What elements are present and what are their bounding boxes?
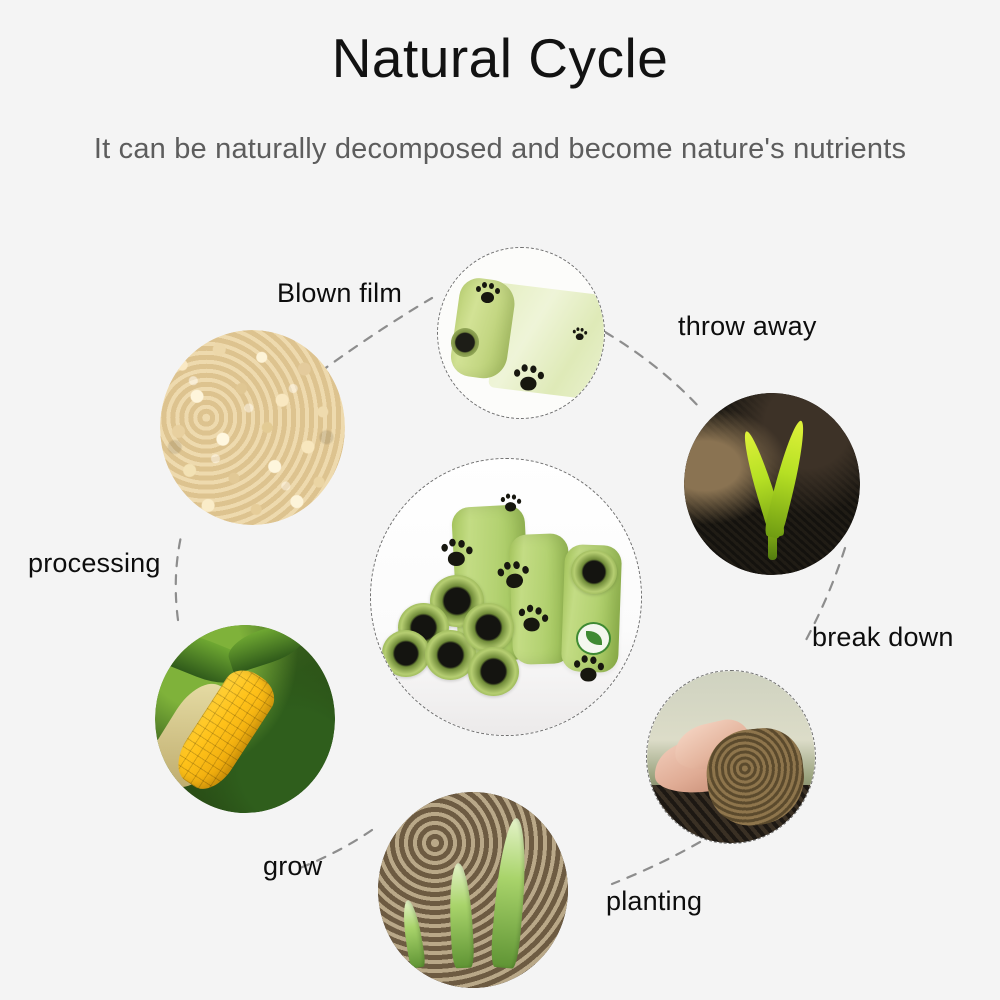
center-product-image[interactable] <box>370 458 642 736</box>
connector-break-down-to-planting <box>612 842 700 884</box>
node-image-grow[interactable] <box>155 625 335 813</box>
node-image-blown-film[interactable] <box>437 247 605 419</box>
paw-print-icon <box>500 494 522 513</box>
planting-photo <box>378 792 568 988</box>
label-processing: processing <box>28 548 161 579</box>
throw-away-photo <box>684 393 860 575</box>
paw-print-icon <box>475 282 501 304</box>
paw-print-icon <box>573 655 606 683</box>
bag-roll-stack-illustration <box>371 459 641 735</box>
resin-pellets-illustration <box>160 330 345 525</box>
paw-print-icon <box>514 603 550 635</box>
hands-with-soil-illustration <box>647 671 815 843</box>
bag-roll-end <box>468 647 519 697</box>
film-roll-illustration <box>438 248 604 418</box>
seedling-small <box>405 900 421 968</box>
node-image-processing[interactable] <box>160 330 345 525</box>
node-image-throw-away[interactable] <box>684 393 860 575</box>
dark-soil-sprout-illustration <box>684 393 860 575</box>
label-break-down: break down <box>812 622 954 653</box>
node-image-break-down[interactable] <box>646 670 816 844</box>
label-throw-away: throw away <box>678 311 817 342</box>
label-planting: planting <box>606 886 702 917</box>
page-title: Natural Cycle <box>0 28 1000 89</box>
blown-film-photo <box>438 248 604 418</box>
processing-photo <box>160 330 345 525</box>
bag-roll-end <box>382 630 431 677</box>
paw-print-icon <box>573 327 589 340</box>
bag-roll-end <box>463 603 514 653</box>
label-grow: grow <box>263 851 322 882</box>
seedling-medium <box>450 863 472 968</box>
eco-leaf-badge-icon <box>576 622 611 655</box>
infographic-canvas: Natural Cycle It can be naturally decomp… <box>0 0 1000 1000</box>
bag-roll-end <box>571 550 617 594</box>
label-blown-film: Blown film <box>277 278 402 309</box>
connector-grow-to-processing <box>176 532 182 620</box>
paw-print-icon <box>440 538 474 567</box>
seedling-large <box>496 818 524 968</box>
sprout-leaf-right <box>763 418 810 539</box>
product-photo <box>371 459 641 735</box>
seedbed-illustration <box>378 792 568 988</box>
corn-leaf <box>224 625 310 674</box>
grow-photo <box>155 625 335 813</box>
page-subtitle: It can be naturally decomposed and becom… <box>0 133 1000 166</box>
break-down-photo <box>647 671 815 843</box>
node-image-planting[interactable] <box>378 792 568 988</box>
paw-print-icon <box>513 364 546 392</box>
corn-illustration <box>155 625 335 813</box>
